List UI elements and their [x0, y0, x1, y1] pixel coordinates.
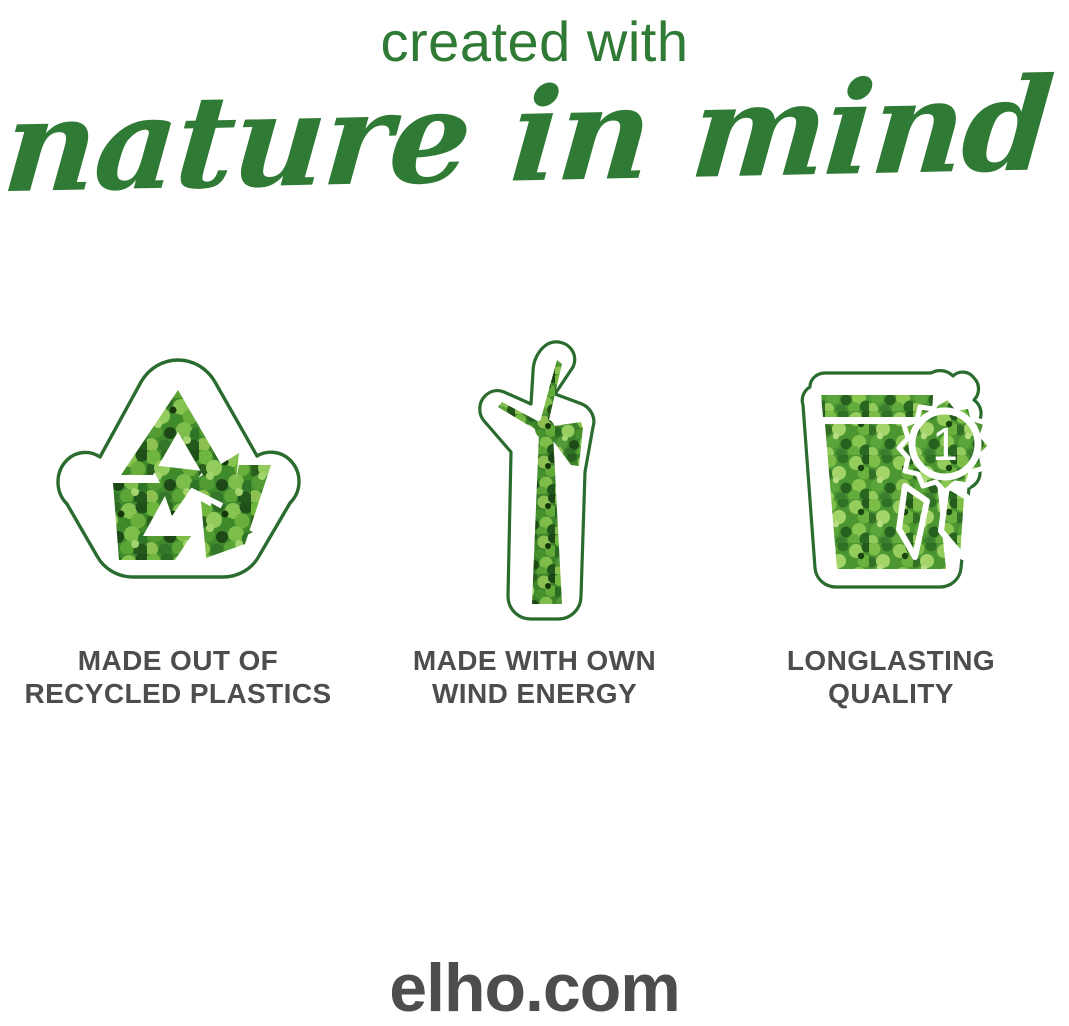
feature-art-wind-turbine [435, 330, 635, 630]
wind-turbine-icon [435, 334, 635, 626]
feature-label-longlasting-quality: LONGLASTING QUALITY [787, 644, 995, 710]
feature-art-flowerpot-award: 1 [781, 330, 1001, 630]
award-badge-number: 1 [932, 418, 958, 470]
feature-label-recycled-plastics: MADE OUT OF RECYCLED PLASTICS [24, 644, 331, 710]
recycle-icon [43, 346, 313, 614]
poster-root: created with nature in mind [0, 0, 1069, 1024]
feature-wind-energy[interactable]: MADE WITH OWN WIND ENERGY [357, 330, 713, 710]
feature-longlasting-quality[interactable]: 1 LONGLASTING QUALITY [713, 330, 1069, 710]
feature-recycled-plastics[interactable]: MADE OUT OF RECYCLED PLASTICS [0, 330, 356, 710]
flowerpot-award-icon: 1 [781, 367, 1001, 593]
headline-script-container: nature in mind [0, 72, 1069, 202]
footer: elho.com [0, 954, 1069, 1024]
feature-art-recycle [43, 330, 313, 630]
headline: created with nature in mind [0, 0, 1069, 202]
feature-label-wind-energy: MADE WITH OWN WIND ENERGY [413, 644, 656, 710]
headline-line-nature-in-mind: nature in mind [0, 49, 1056, 222]
headline-script-svg: nature in mind [35, 72, 1035, 212]
feature-row: MADE OUT OF RECYCLED PLASTICS [0, 330, 1069, 710]
elho-logo[interactable]: elho.com [389, 954, 680, 1024]
